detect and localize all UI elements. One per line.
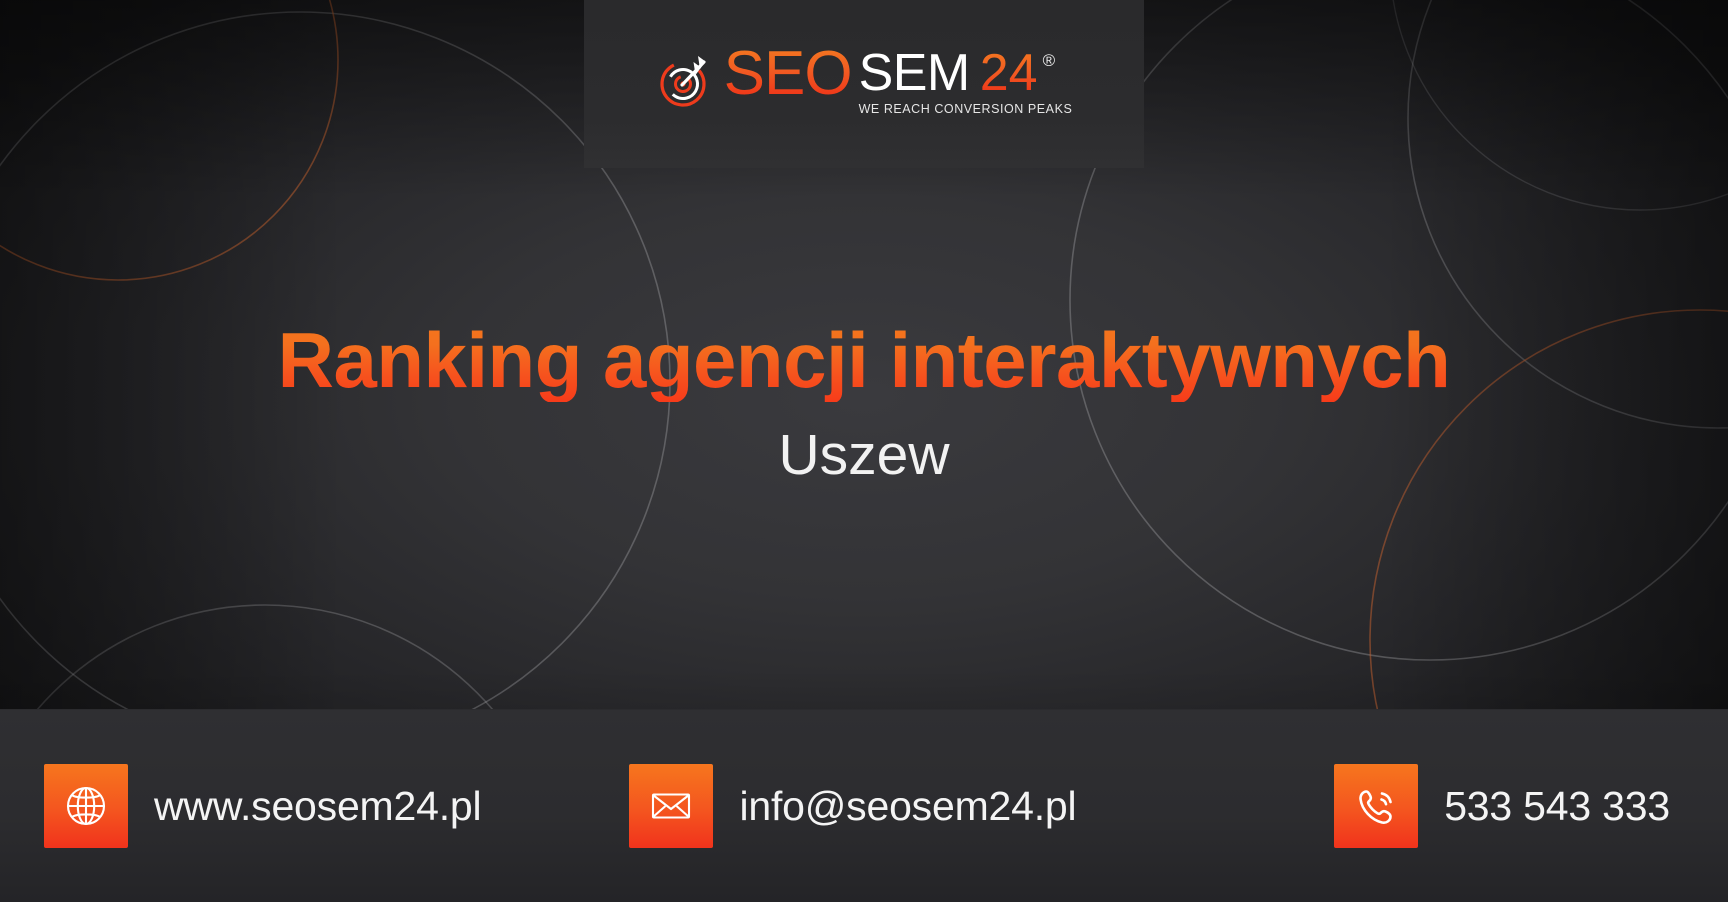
contact-website-label: www.seosem24.pl — [154, 783, 481, 830]
hero-section: Ranking agencji interaktywnych Uszew — [0, 320, 1728, 486]
contact-phone-label: 533 543 333 — [1444, 783, 1670, 830]
logo-sem-text: SEM — [859, 47, 970, 99]
logo-seo-text: SEO — [724, 44, 852, 105]
logo-banner: SEO SEM 24 ® WE REACH CONVERSION PEAKS — [584, 0, 1144, 168]
globe-icon — [44, 764, 128, 848]
contact-email[interactable]: info@seosem24.pl — [629, 764, 1076, 848]
logo-number-text: 24 — [980, 47, 1038, 99]
phone-icon — [1334, 764, 1418, 848]
target-arrow-icon — [656, 51, 714, 109]
page-subtitle: Uszew — [0, 426, 1728, 486]
slide-canvas: SEO SEM 24 ® WE REACH CONVERSION PEAKS R… — [0, 0, 1728, 902]
logo-wordmark: SEO SEM 24 ® WE REACH CONVERSION PEAKS — [724, 44, 1073, 116]
contact-email-label: info@seosem24.pl — [739, 783, 1076, 830]
contact-phone[interactable]: 533 543 333 — [1334, 764, 1670, 848]
logo-tagline: WE REACH CONVERSION PEAKS — [859, 102, 1073, 116]
contact-footer-bar: www.seosem24.pl info@seosem24.pl — [0, 709, 1728, 902]
contact-website[interactable]: www.seosem24.pl — [44, 764, 481, 848]
registered-trademark-icon: ® — [1043, 52, 1056, 69]
envelope-icon — [629, 764, 713, 848]
brand-logo[interactable]: SEO SEM 24 ® WE REACH CONVERSION PEAKS — [656, 44, 1073, 116]
page-title: Ranking agencji interaktywnych — [0, 320, 1728, 402]
